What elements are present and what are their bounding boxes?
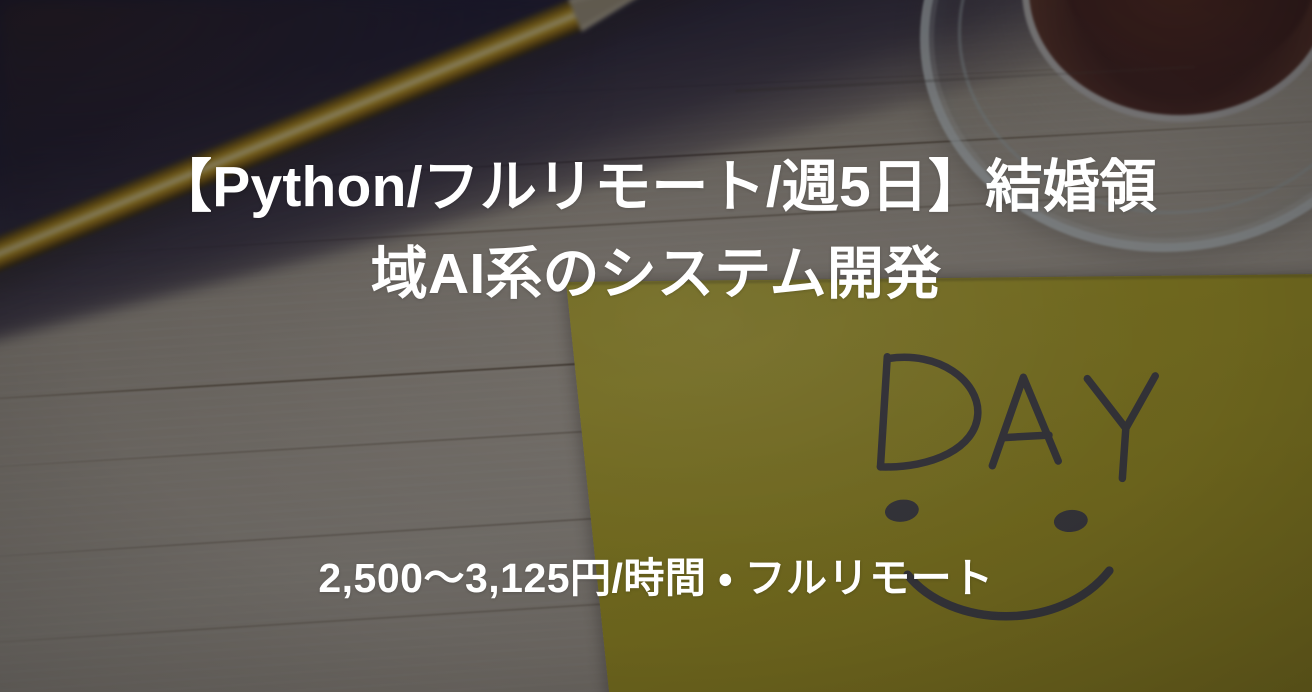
- hero-content: 【Python/フルリモート/週5日】結婚領域AI系のシステム開発 2,500〜…: [0, 0, 1312, 692]
- page-title: 【Python/フルリモート/週5日】結婚領域AI系のシステム開発: [1, 144, 1311, 318]
- hero-subtitle: 2,500〜3,125円/時間 ・ フルリモート: [0, 552, 1312, 605]
- hero-banner: 【Python/フルリモート/週5日】結婚領域AI系のシステム開発 2,500〜…: [0, 0, 1312, 692]
